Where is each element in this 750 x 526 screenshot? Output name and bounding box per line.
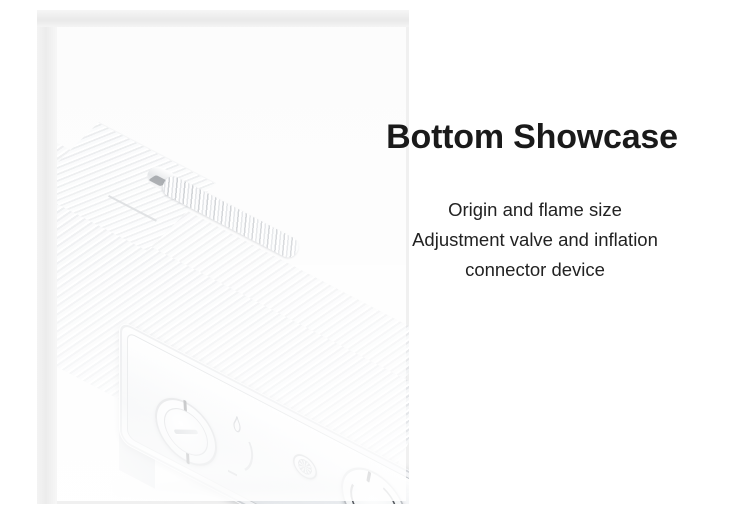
lighter-product-illustration [57,27,409,504]
subtext-line-1: Origin and flame size [390,195,680,225]
subtext-line-3: connector device [390,255,680,285]
frame-edge-top [37,10,409,27]
product-showcase-banner: Bottom Showcase Origin and flame size Ad… [0,0,750,526]
flame-adjustment-dial [153,387,218,478]
page-subtext: Origin and flame size Adjustment valve a… [390,195,680,285]
product-image-frame [37,10,409,504]
product-image-canvas [57,27,406,501]
flame-scale-arc-icon [220,421,256,479]
copy-column: Bottom Showcase Origin and flame size Ad… [372,0,750,526]
frame-edge-left [37,10,57,504]
product-drop-shadow [115,475,409,501]
subtext-line-2: Adjustment valve and inflation [390,225,680,255]
page-title: Bottom Showcase [372,118,692,156]
dial-screw-slot-icon [174,429,199,434]
